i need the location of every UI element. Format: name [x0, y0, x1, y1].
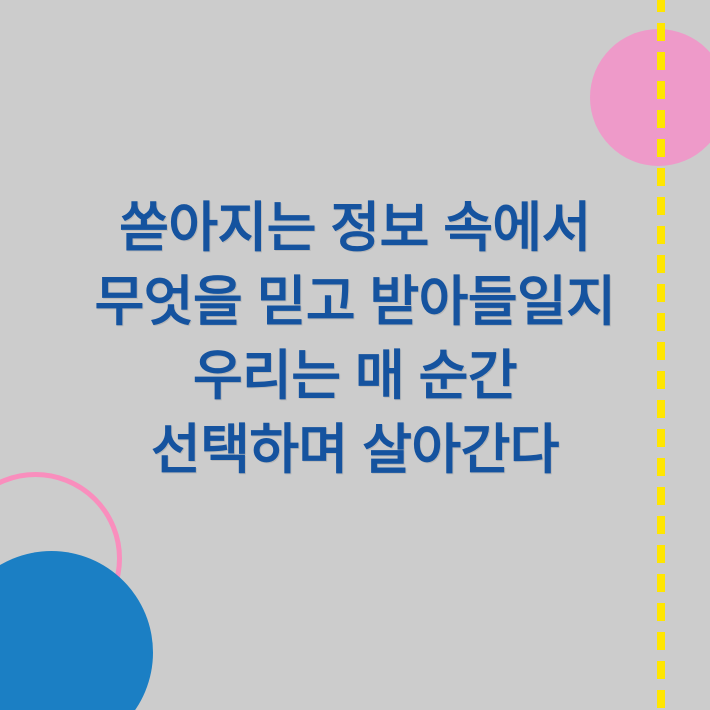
headline-text-block: 쏟아지는 정보 속에서 무엇을 믿고 받아들일지 우리는 매 순간 선택하며 살… — [0, 191, 710, 487]
blue-circle-decoration — [0, 551, 153, 710]
headline-line-2: 무엇을 믿고 받아들일지 — [0, 265, 710, 339]
headline-line-4: 선택하며 살아간다 — [0, 413, 710, 487]
pink-circle-decoration — [590, 29, 710, 166]
headline-line-1: 쏟아지는 정보 속에서 — [0, 191, 710, 265]
headline-line-3: 우리는 매 순간 — [0, 339, 710, 413]
quote-card: 쏟아지는 정보 속에서 무엇을 믿고 받아들일지 우리는 매 순간 선택하며 살… — [0, 0, 710, 710]
